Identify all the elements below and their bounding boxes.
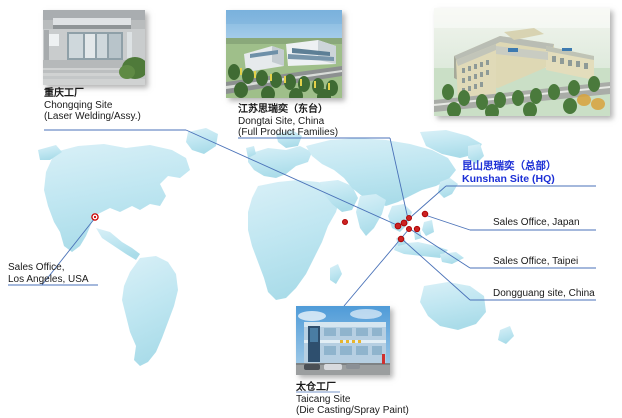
taicang-label-detail: (Die Casting/Spray Paint) bbox=[296, 405, 409, 417]
kunshan-hq-label: 昆山思瑞奕（总部） Kunshan Site (HQ) bbox=[462, 160, 557, 185]
chongqing-site-photo bbox=[43, 10, 145, 85]
dongtai-label-en: Dongtai Site, China bbox=[238, 116, 338, 128]
dongtai-label-cn: 江苏思瑞奕（东台） bbox=[238, 104, 338, 116]
japan-connector bbox=[425, 215, 470, 230]
dongguang-label: Dongguang site, China bbox=[493, 288, 595, 300]
taipei-label: Sales Office, Taipei bbox=[493, 256, 578, 268]
chongqing-label-detail: (Laser Welding/Assy.) bbox=[44, 111, 141, 123]
kunshan-hq-photo bbox=[434, 8, 610, 116]
kunshan-label-cn: 昆山思瑞奕（总部） bbox=[462, 160, 557, 173]
los-angeles-label-line1: Sales Office, bbox=[8, 262, 89, 274]
dongguang-label-text: Dongguang site, China bbox=[493, 288, 595, 300]
japan-label-text: Sales Office, Japan bbox=[493, 217, 580, 229]
japan-label: Sales Office, Japan bbox=[493, 217, 580, 229]
taipei-connector bbox=[410, 229, 470, 268]
dongtai-site-photo bbox=[226, 10, 342, 98]
taicang-label-cn: 太仓工厂 bbox=[296, 382, 409, 394]
taicang-label-en: Taicang Site bbox=[296, 394, 409, 406]
chongqing-label: 重庆工厂 Chongqing Site (Laser Welding/Assy.… bbox=[44, 88, 141, 123]
chongqing-label-en: Chongqing Site bbox=[44, 100, 141, 112]
taicang-site-photo bbox=[296, 306, 390, 375]
chongqing-connector bbox=[186, 130, 399, 226]
world-site-map-figure: 重庆工厂 Chongqing Site (Laser Welding/Assy.… bbox=[0, 0, 622, 418]
dongtai-label-detail: (Full Product Families) bbox=[238, 127, 338, 139]
chongqing-label-cn: 重庆工厂 bbox=[44, 88, 141, 100]
los-angeles-label-line2: Los Angeles, USA bbox=[8, 274, 89, 286]
taipei-label-text: Sales Office, Taipei bbox=[493, 256, 578, 268]
dongguang-connector bbox=[403, 240, 470, 300]
kunshan-label-en: Kunshan Site (HQ) bbox=[462, 173, 557, 186]
los-angeles-label: Sales Office, Los Angeles, USA bbox=[8, 262, 89, 285]
taicang-label: 太仓工厂 Taicang Site (Die Casting/Spray Pai… bbox=[296, 382, 409, 417]
dongtai-connector-diag bbox=[390, 138, 408, 219]
dongtai-label: 江苏思瑞奕（东台） Dongtai Site, China (Full Prod… bbox=[238, 104, 338, 139]
